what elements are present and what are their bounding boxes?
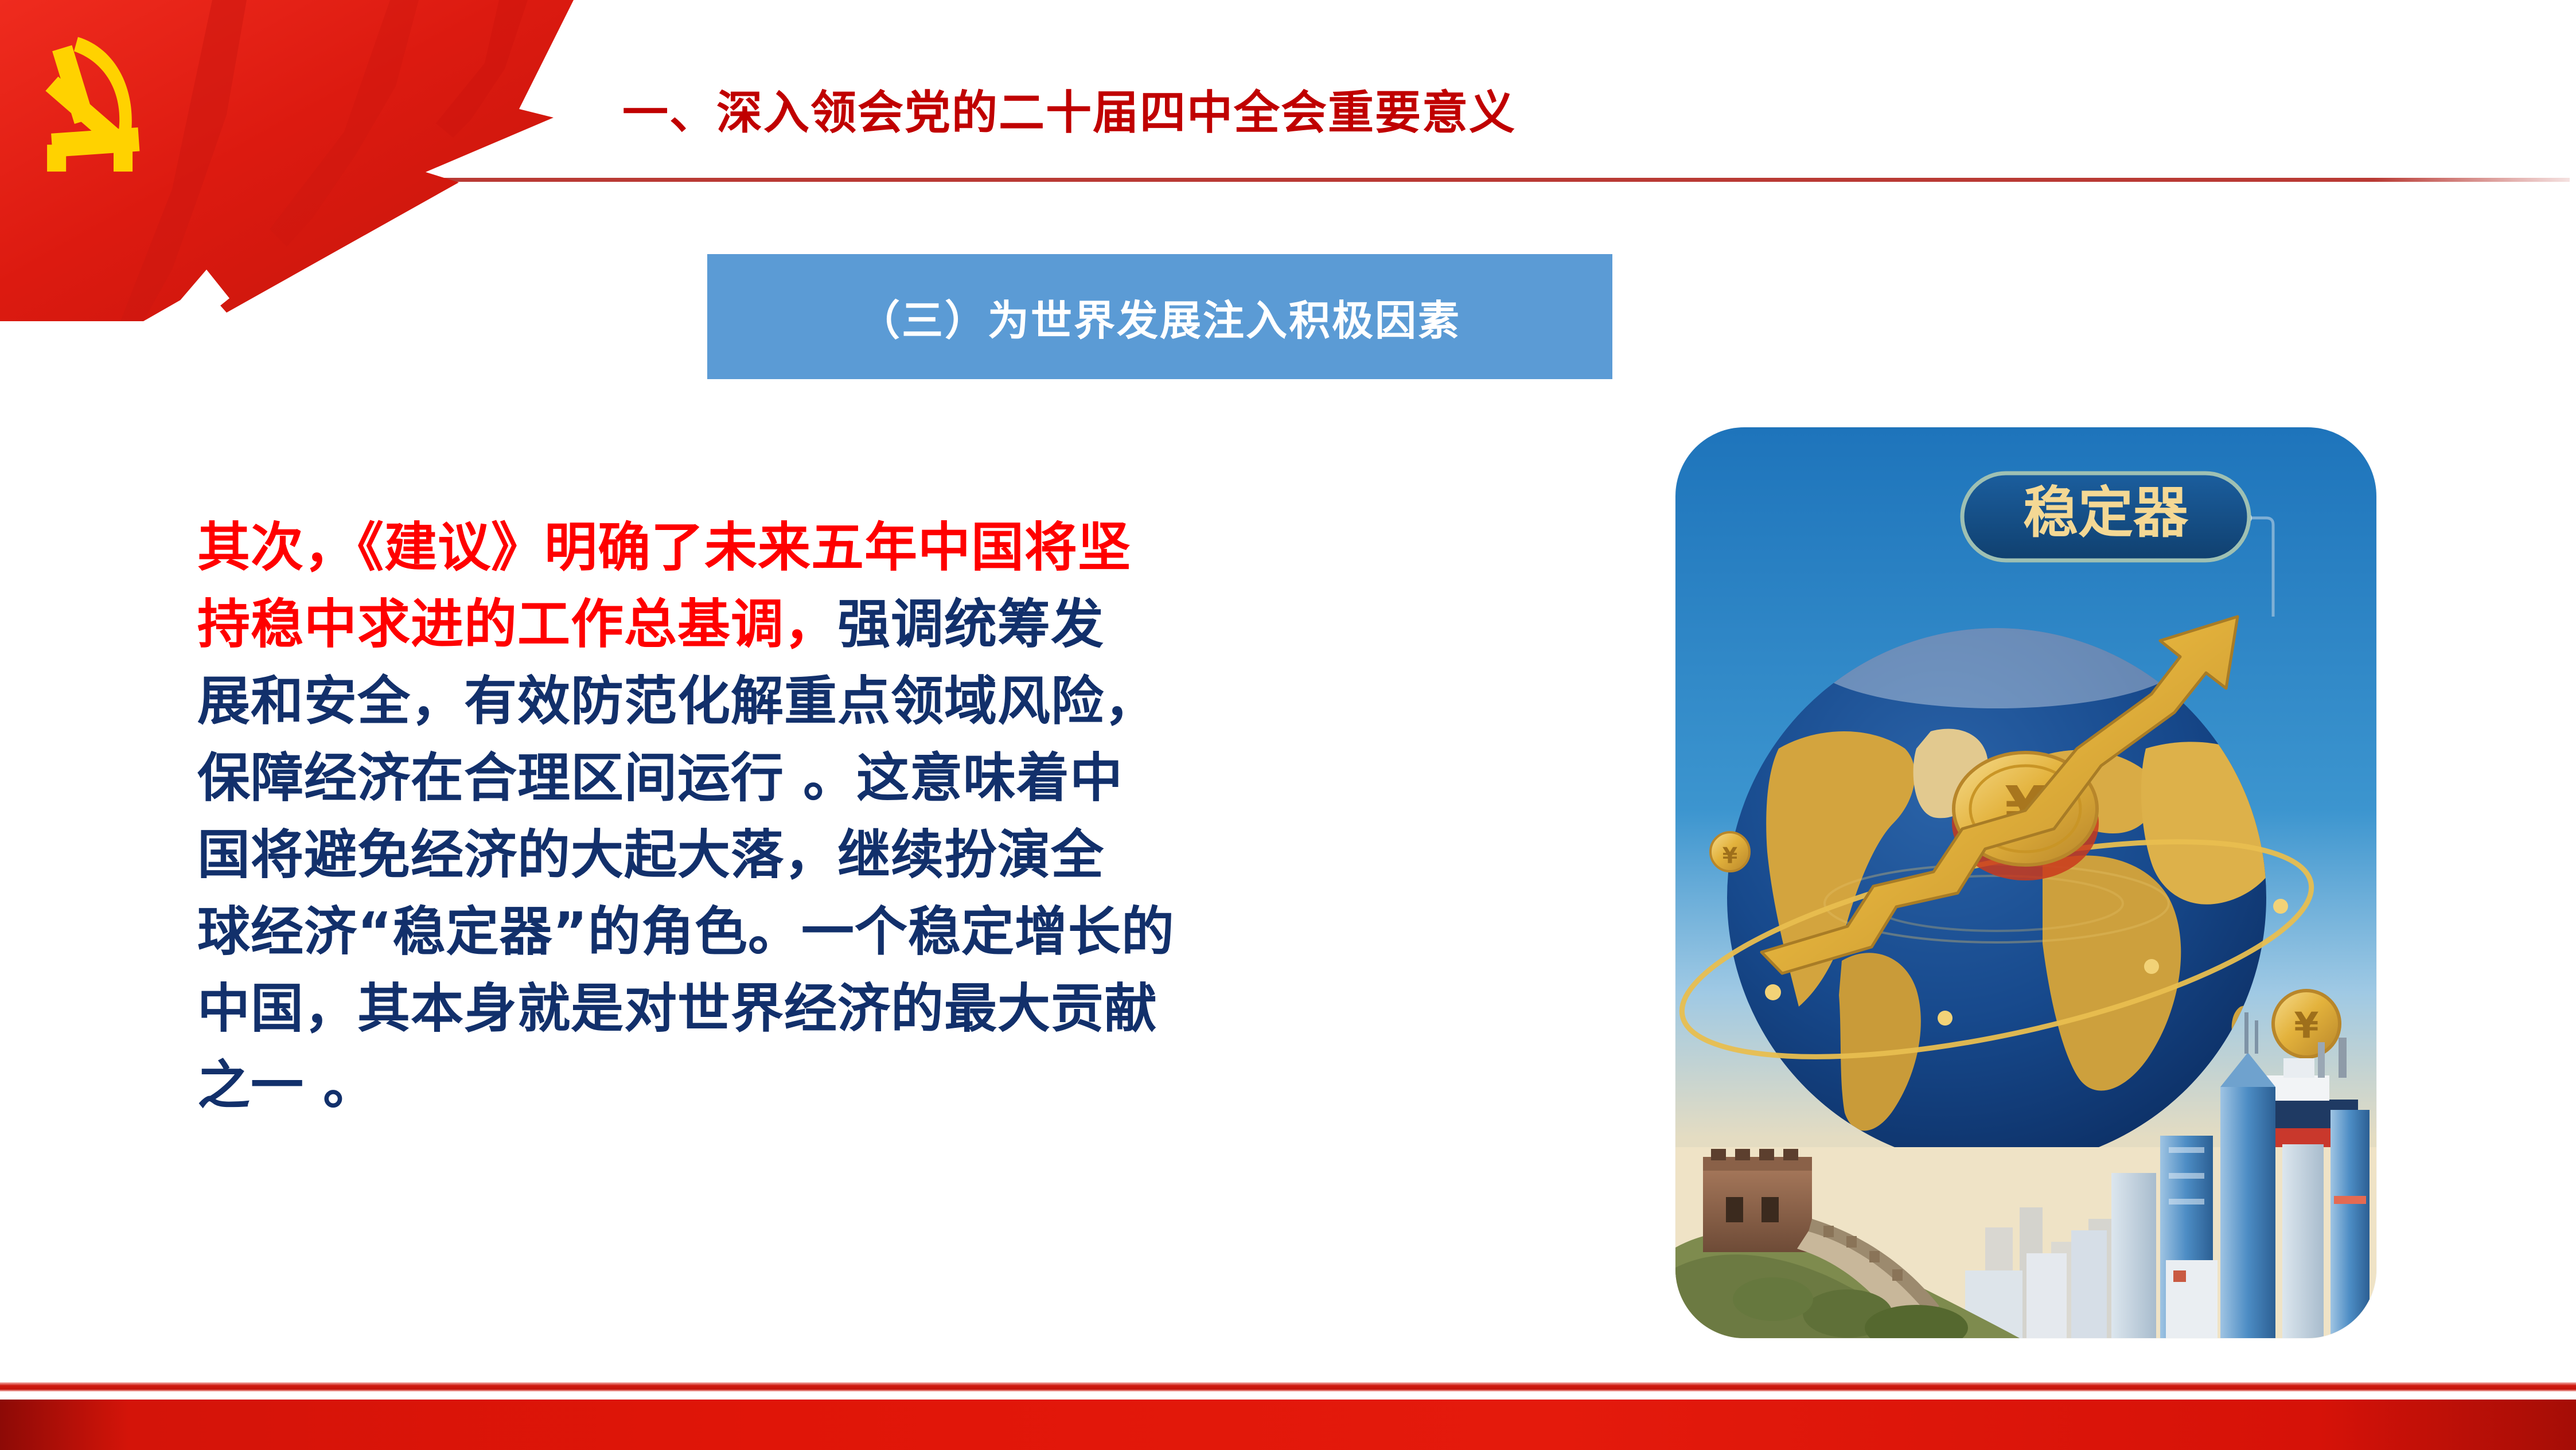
body-line-navy: 展和安全，有效防范化解重点领域风险， (197, 671, 1158, 732)
body-line: 展和安全，有效防范化解重点领域风险， (197, 663, 1591, 740)
body-line-navy: 球经济“稳定器”的角色。一个稳定增长的 (197, 901, 1175, 962)
party-flag-icon (0, 0, 608, 321)
body-line: 其次，《建议》明确了未来五年中国将坚 (197, 509, 1591, 586)
body-line-navy: 之一 。 (197, 1055, 376, 1116)
footer-thin-rule (0, 1382, 2576, 1391)
section-banner: （三）为世界发展注入积极因素 (707, 254, 1612, 379)
body-line-red: 持稳中求进的工作总基调， (197, 594, 837, 655)
body-line-navy: 保障经济在合理区间运行 。这意味着中 (197, 747, 1123, 809)
body-line: 球经济“稳定器”的角色。一个稳定增长的 (197, 894, 1591, 970)
yuan-coin-small-right: ¥ (2273, 991, 2340, 1057)
body-line: 国将避免经济的大起大落，继续扮演全 (197, 817, 1591, 894)
body-line: 持稳中求进的工作总基调，强调统筹发 (197, 586, 1591, 663)
party-flag-decoration (0, 0, 608, 321)
body-line-navy: 中国，其本身就是对世界经济的最大贡献 (197, 978, 1158, 1039)
global-economy-illustration: 稳定器 (1675, 427, 2376, 1338)
body-line-navy: 强调统筹发 (837, 594, 1104, 655)
body-paragraph: 其次，《建议》明确了未来五年中国将坚 持稳中求进的工作总基调，强调统筹发 展和安… (197, 509, 1591, 1124)
yuan-coin-small-left: ¥ (1710, 832, 1749, 871)
body-line: 之一 。 (197, 1047, 1591, 1124)
stabilizer-badge-label: 稳定器 (2023, 481, 2189, 545)
footer-bar (0, 1400, 2576, 1450)
body-line-red: 其次，《建议》明确了未来五年中国将坚 (197, 517, 1131, 578)
illustration-canvas: 稳定器 (1675, 427, 2376, 1338)
section-banner-label: （三）为世界发展注入积极因素 (859, 287, 1461, 347)
svg-text:¥: ¥ (2294, 1004, 2318, 1046)
body-line: 保障经济在合理区间运行 。这意味着中 (197, 740, 1591, 817)
body-line: 中国，其本身就是对世界经济的最大贡献 (197, 970, 1591, 1047)
svg-text:¥: ¥ (1722, 843, 1737, 868)
body-line-navy: 国将避免经济的大起大落，继续扮演全 (197, 824, 1104, 886)
page-title: 一、深入领会党的二十届四中全会重要意义 (622, 76, 1516, 142)
